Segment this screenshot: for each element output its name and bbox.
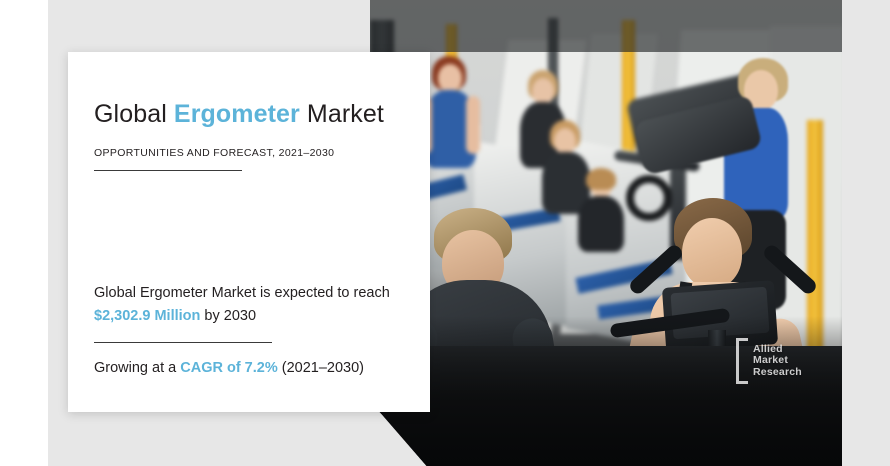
cagr-line: Growing at a CAGR of 7.2% (2021–2030): [94, 360, 364, 376]
watermark-bracket-icon: [736, 338, 748, 384]
subtitle: OPPORTUNITIES AND FORECAST, 2021–2030: [94, 147, 334, 159]
divider-bottom: [94, 342, 272, 343]
stat-line-2: $2,302.9 Million by 2030: [94, 305, 414, 328]
page-title: Global Ergometer Market: [94, 100, 384, 129]
hero-photo: Allied Market Research: [370, 0, 842, 466]
divider-top: [94, 170, 242, 171]
title-prefix: Global: [94, 100, 174, 128]
cagr-value: CAGR of 7.2%: [180, 360, 278, 376]
title-highlight: Ergometer: [174, 100, 300, 128]
watermark-line-3: Research: [753, 367, 802, 379]
stat-line-1: Global Ergometer Market is expected to r…: [94, 282, 414, 305]
info-card: Global Ergometer Market OPPORTUNITIES AN…: [68, 52, 430, 412]
infographic-banner: Allied Market Research Global Ergometer …: [0, 0, 890, 466]
cagr-prefix: Growing at a: [94, 360, 180, 376]
cagr-suffix: (2021–2030): [278, 360, 364, 376]
stat-suffix: by 2030: [200, 308, 256, 324]
title-suffix: Market: [300, 100, 384, 128]
stat-value: $2,302.9 Million: [94, 308, 200, 324]
stat-block: Global Ergometer Market is expected to r…: [94, 282, 414, 328]
watermark: Allied Market Research: [736, 338, 802, 384]
